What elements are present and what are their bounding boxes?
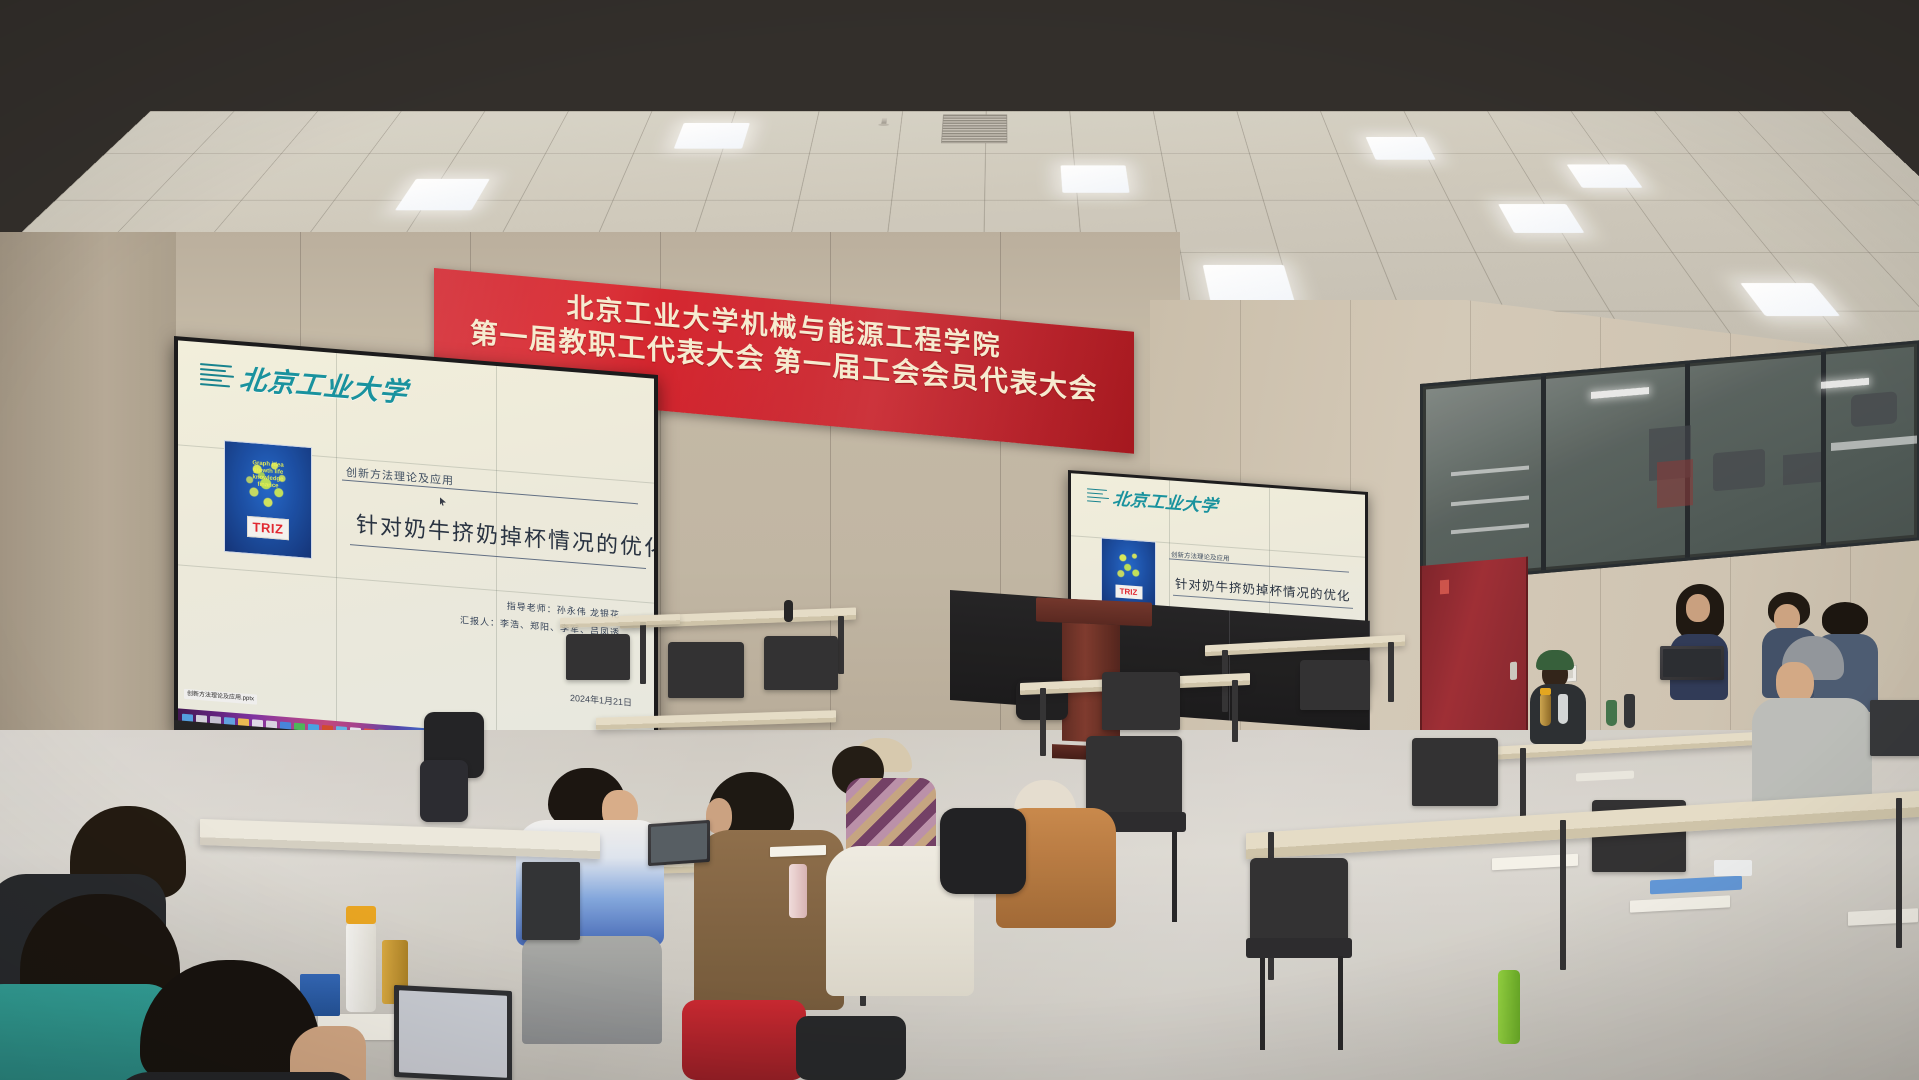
person-legs — [522, 936, 662, 1044]
laptop — [1660, 646, 1724, 680]
chair — [1300, 660, 1370, 710]
laptop — [394, 985, 512, 1080]
person-torso — [1752, 698, 1872, 810]
table-leg — [1520, 748, 1526, 826]
sprinkler-head — [881, 118, 887, 125]
mouse-cursor-icon — [440, 497, 446, 505]
triz-label-plate: TRIZ — [247, 516, 289, 540]
table-leg — [1896, 798, 1902, 948]
table-leg — [1040, 688, 1046, 756]
table-leg — [1232, 680, 1238, 742]
laptop — [522, 862, 580, 940]
panel-seam — [496, 366, 497, 754]
led-panel-light — [1061, 165, 1130, 192]
chair — [764, 636, 838, 690]
chair — [1250, 858, 1348, 944]
person-torso — [110, 1072, 360, 1080]
hat-icon — [1536, 650, 1574, 670]
panel-seam — [336, 353, 337, 741]
bottle-cap — [346, 906, 376, 924]
lightbulb-icon: Graph ideagrowth lifeknowledgefinance — [241, 451, 295, 521]
window-mullion — [1541, 376, 1546, 570]
table-leg — [1560, 820, 1566, 970]
backpack — [420, 760, 468, 822]
laptop-screen — [651, 823, 707, 863]
hair — [1822, 602, 1868, 636]
slide-date: 2024年1月21日 — [570, 691, 632, 709]
chair-leg — [1172, 830, 1177, 922]
lightbulb-icon — [1112, 545, 1146, 589]
window-title-text: 创新方法理论及应用.pptx — [187, 689, 254, 704]
tissue-box — [1714, 860, 1752, 876]
thermos-flask — [1624, 694, 1635, 728]
slide-title: 针对奶牛挤奶掉杯情况的优化 — [356, 507, 654, 564]
table-leg — [1388, 642, 1394, 702]
microphone — [784, 600, 793, 622]
table-leg — [838, 616, 844, 674]
equipment-silhouette — [1783, 452, 1821, 485]
bottle-cap — [1540, 688, 1551, 695]
equipment-silhouette — [1713, 449, 1765, 492]
dark-jacket — [796, 1016, 906, 1080]
lectern-top — [1036, 597, 1152, 626]
water-bottle — [346, 922, 376, 1012]
thermos-flask — [1606, 700, 1617, 726]
equipment-silhouette — [1851, 391, 1897, 427]
triz-label: TRIZ — [1120, 587, 1138, 597]
bjut-emblem-icon — [200, 361, 234, 390]
backpack — [940, 808, 1026, 894]
chair-leg — [1260, 958, 1265, 1050]
thermos-flask — [789, 864, 807, 918]
water-bottle — [1558, 694, 1568, 724]
triz-lightbulb-graphic: Graph ideagrowth lifeknowledgefinance TR… — [224, 440, 312, 559]
red-jacket — [682, 1000, 806, 1080]
water-bottle — [1540, 694, 1551, 726]
avatar — [1686, 594, 1710, 622]
door-handle[interactable] — [1510, 662, 1517, 681]
university-logo: 北京工业大学 — [1087, 482, 1218, 517]
title-rule-top — [1169, 558, 1349, 572]
chair — [668, 642, 744, 698]
taskbar-window-title[interactable]: 创新方法理论及应用.pptx — [184, 689, 257, 705]
papers — [770, 845, 826, 857]
laptop — [1870, 700, 1919, 756]
laptop-screen — [399, 990, 507, 1078]
equipment-silhouette — [1657, 459, 1693, 508]
chair — [1086, 736, 1182, 818]
primary-slide-surface[interactable]: 北京工业大学 Graph ideagrowth lifeknowledgefin… — [178, 340, 654, 766]
led-panel-light — [674, 123, 750, 149]
triz-label: TRIZ — [253, 519, 284, 536]
hvac-vent — [941, 115, 1007, 144]
laptop — [648, 820, 710, 866]
slide-title: 针对奶牛挤奶掉杯情况的优化 — [1175, 573, 1351, 605]
university-logo: 北京工业大学 — [200, 354, 408, 410]
chair-seat — [1246, 938, 1352, 958]
thermos-flask — [1498, 970, 1520, 1044]
lecture-hall-photo: 北京工业大学机械与能源工程学院 第一届教职工代表大会 第一届工会会员代表大会 北… — [0, 0, 1919, 1080]
led-panel-light — [1203, 265, 1295, 303]
word-cloud-text: Graph ideagrowth lifeknowledgefinance — [241, 451, 295, 521]
triz-label-plate: TRIZ — [1115, 584, 1142, 599]
chair-leg — [1338, 956, 1343, 1050]
led-panel-light — [1366, 137, 1436, 160]
chair — [566, 634, 630, 680]
fire-alarm-icon — [1440, 580, 1449, 595]
laptop-screen — [1663, 649, 1721, 677]
person-torso — [694, 830, 844, 1010]
university-logo-text: 北京工业大学 — [238, 358, 411, 410]
primary-led-video-wall[interactable]: 北京工业大学 Graph ideagrowth lifeknowledgefin… — [174, 336, 658, 771]
university-logo-text: 北京工业大学 — [1111, 484, 1219, 516]
table-leg — [640, 622, 646, 684]
panel-seam — [178, 564, 654, 603]
chair — [1102, 672, 1180, 730]
chair — [1412, 738, 1498, 806]
bjut-emblem-icon — [1087, 487, 1109, 505]
title-rule-top — [342, 480, 638, 505]
